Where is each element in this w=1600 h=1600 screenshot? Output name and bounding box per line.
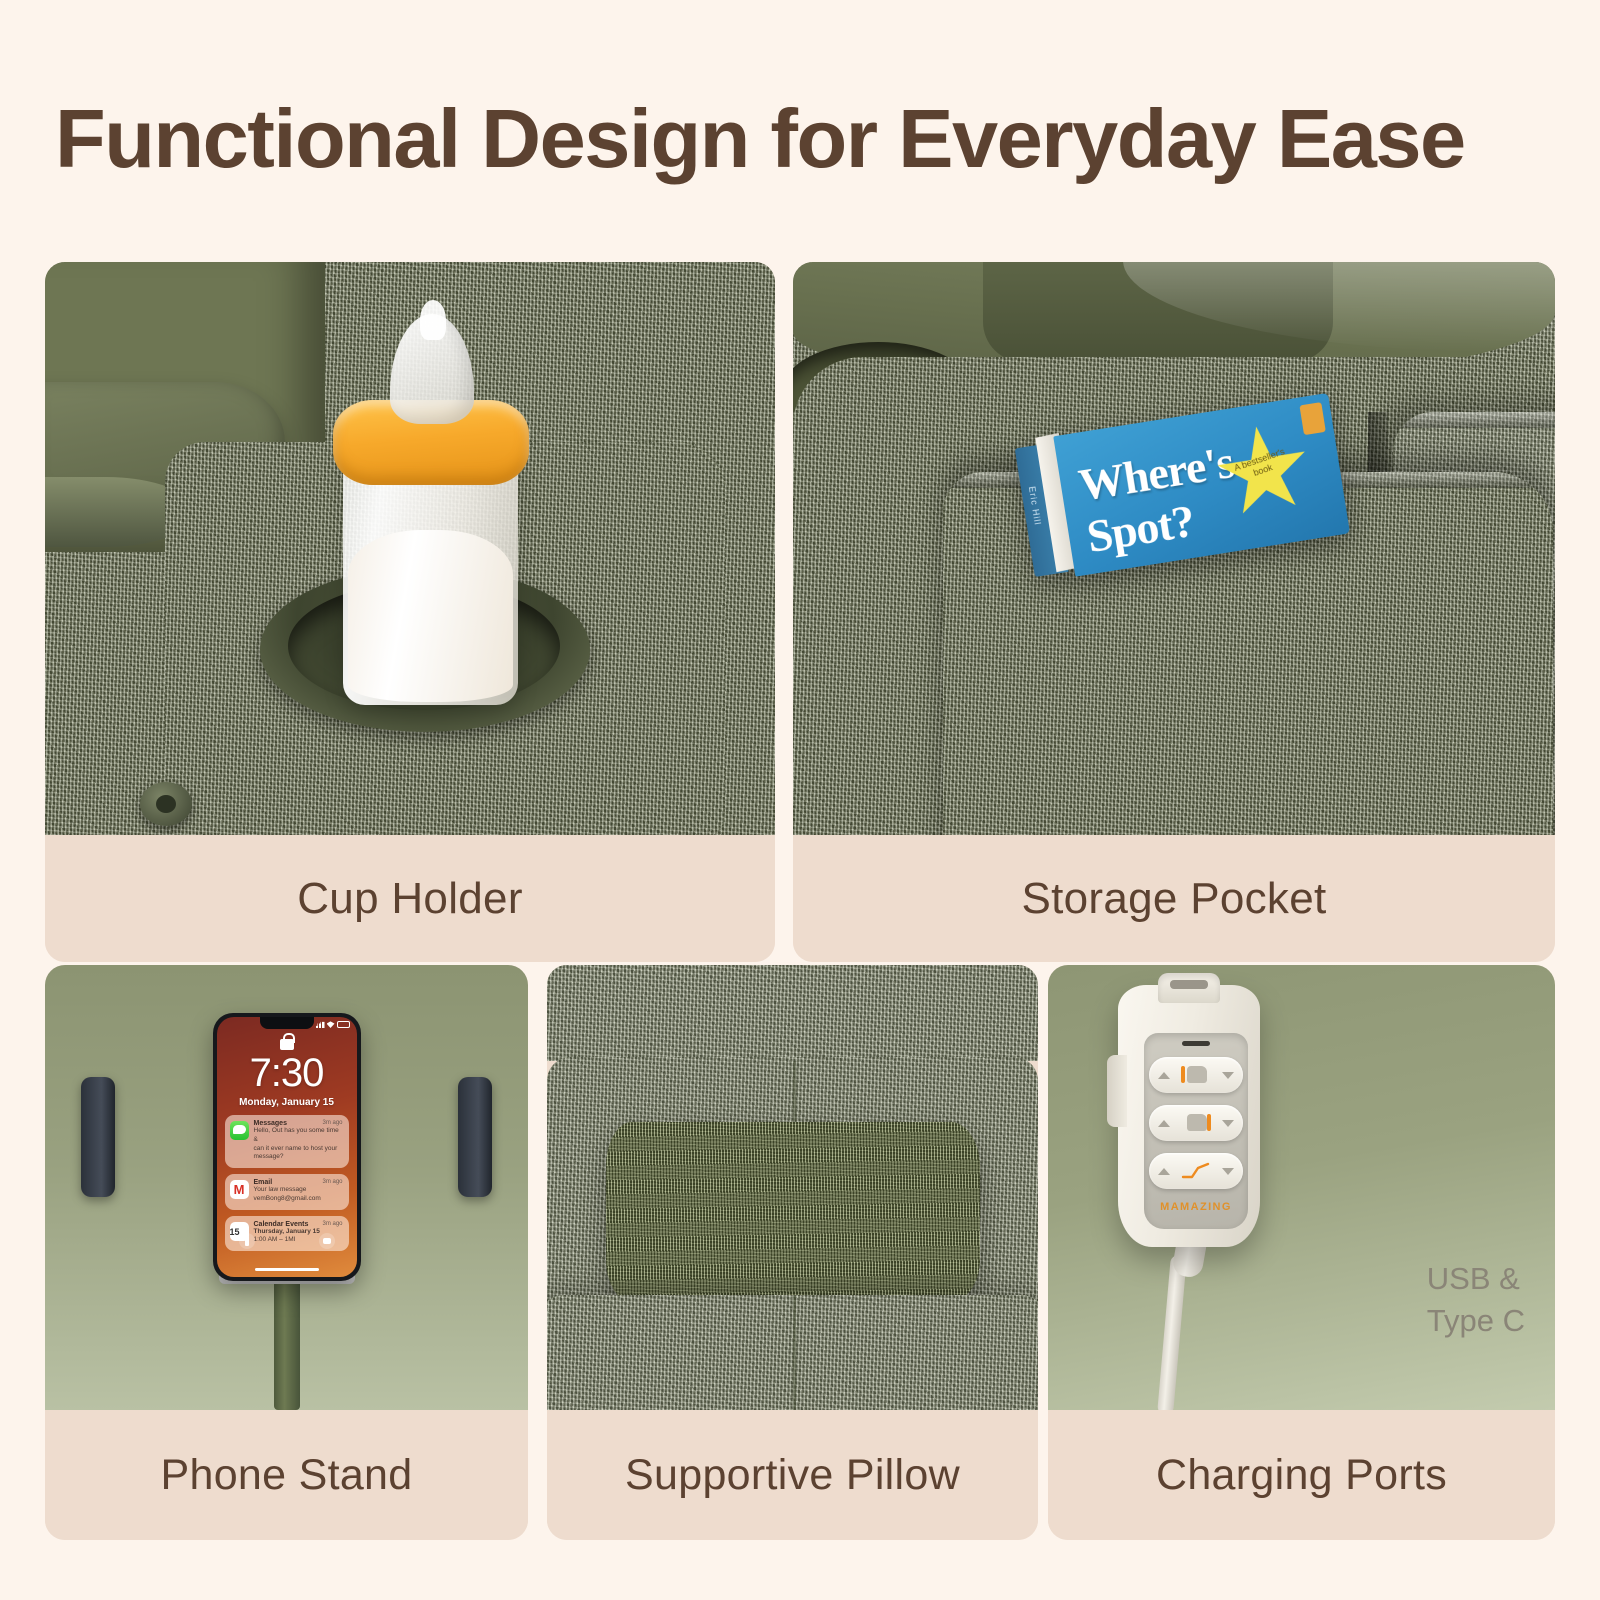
lock-screen-date: Monday, January 15 [217,1097,357,1108]
feature-card-cup-holder[interactable]: Cup Holder [45,262,775,962]
remote-side-tab [1107,1055,1127,1127]
phone-notch [260,1017,314,1029]
recliner-knob [140,782,192,826]
feature-card-storage-pocket[interactable]: Eric Hill Where's Spot? A bestseller's b… [793,262,1555,962]
feature-card-charging-ports[interactable]: MAMAZING USB & Type C Charging Ports [1048,965,1555,1540]
up-chevron-icon[interactable] [1158,1072,1170,1079]
caption-cup-holder: Cup Holder [45,835,775,962]
notification-timestamp: 3m ago [322,1221,342,1227]
notification-timestamp: 3m ago [322,1120,342,1126]
lock-screen-time: 7:30 [217,1053,357,1093]
gmail-icon [230,1180,249,1199]
remote-control[interactable]: MAMAZING [1118,985,1260,1247]
remote-hook-clip [1158,973,1220,1003]
signal-icon [316,1021,325,1028]
phone-lock-screen[interactable]: 7:30 Monday, January 15 3m ago Messages … [217,1017,357,1277]
notification-list: 3m ago Messages Hello, Out has you some … [225,1115,349,1251]
remote-brand-label: MAMAZING [1144,1201,1248,1213]
footrest-glyph-icon [1179,1112,1213,1134]
calendar-icon-day: 15 [230,1227,240,1237]
caption-storage-pocket: Storage Pocket [793,835,1555,962]
remote-led-indicator [1182,1041,1210,1046]
lock-icon [280,1039,294,1050]
caption-charging-ports: Charging Ports [1048,1410,1555,1540]
notification-line3: message? [254,1153,343,1162]
pocket-opening-lip [1393,412,1555,428]
baby-bottle-tip [420,300,446,340]
caption-phone-stand: Phone Stand [45,1410,528,1540]
seat-seam [793,1295,796,1410]
backrest-glyph-icon [1179,1064,1213,1086]
status-bar [316,1021,350,1028]
usb-port-label-line2: Type C [1427,1300,1525,1342]
lumbar-pillow [606,1122,980,1302]
up-chevron-icon[interactable] [1158,1168,1170,1175]
remote-button-panel: MAMAZING [1144,1033,1248,1229]
up-chevron-icon[interactable] [1158,1120,1170,1127]
down-chevron-icon[interactable] [1222,1072,1234,1079]
phone-stand-post [274,1275,300,1410]
charging-ports-photo: MAMAZING USB & Type C [1048,965,1555,1410]
home-indicator[interactable] [255,1268,319,1271]
notification-email[interactable]: 3m ago Email Your law message vemBong8@g… [225,1174,349,1210]
notification-line1: Your law message [254,1186,343,1195]
flashlight-icon[interactable] [239,1233,255,1249]
wifi-icon [327,1021,335,1028]
recline-glyph-icon [1179,1160,1213,1182]
usb-port-label-line1: USB & [1427,1258,1525,1300]
pillow-fabric-texture [606,1122,980,1302]
usb-port-label: USB & Type C [1427,1258,1525,1342]
supportive-pillow-photo [547,965,1038,1410]
notification-timestamp: 3m ago [322,1179,342,1185]
sofa-backrest-top [547,965,1038,1061]
cup-holder-photo [45,262,775,835]
caption-supportive-pillow: Supportive Pillow [547,1410,1038,1540]
feature-card-phone-stand[interactable]: 7:30 Monday, January 15 3m ago Messages … [45,965,528,1540]
feature-card-supportive-pillow[interactable]: Supportive Pillow [547,965,1038,1540]
storage-pocket-photo: Eric Hill Where's Spot? A bestseller's b… [793,262,1555,835]
down-chevron-icon[interactable] [1222,1120,1234,1127]
down-chevron-icon[interactable] [1222,1168,1234,1175]
button-footrest-control[interactable] [1149,1105,1243,1141]
smartphone[interactable]: 7:30 Monday, January 15 3m ago Messages … [213,1013,361,1281]
notification-line1: Hello, Out has you some time & [254,1127,343,1145]
button-backrest-control[interactable] [1149,1057,1243,1093]
phone-stand-clamp-left [81,1077,115,1197]
page-title: Functional Design for Everyday Ease [55,95,1555,182]
battery-icon [337,1021,350,1028]
notification-line2: can it ever name to host your [254,1145,343,1154]
camera-icon[interactable] [319,1233,335,1249]
phone-stand-clamp-right [458,1077,492,1197]
notification-messages[interactable]: 3m ago Messages Hello, Out has you some … [225,1115,349,1168]
button-recline-control[interactable] [1149,1153,1243,1189]
recline-zigzag-icon [1181,1162,1211,1180]
baby-bottle-milk [348,530,513,702]
book-spine-text: Eric Hill [1027,486,1043,527]
book-corner-badge-icon [1299,402,1325,435]
messages-icon [230,1121,249,1140]
phone-stand-photo: 7:30 Monday, January 15 3m ago Messages … [45,965,528,1410]
notification-line2: vemBong8@gmail.com [254,1195,343,1204]
backrest-fabric-texture [547,965,1038,1061]
